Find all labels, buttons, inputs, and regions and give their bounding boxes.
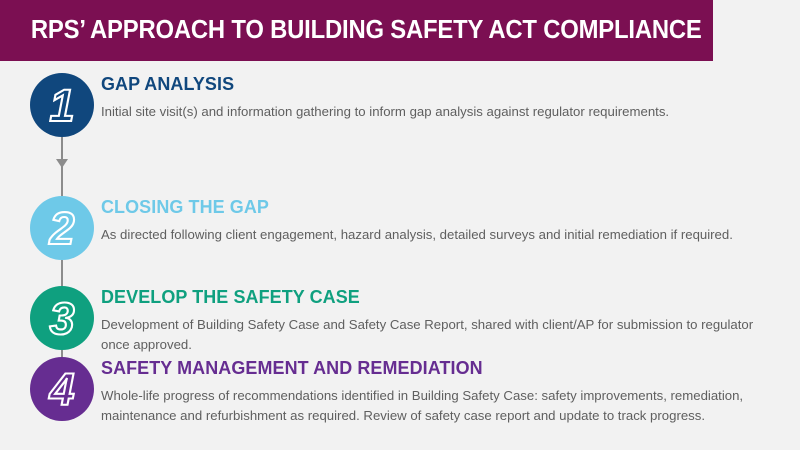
step-2-number: 2	[30, 196, 94, 260]
page-title: RPS’ APPROACH TO BUILDING SAFETY ACT COM…	[0, 16, 702, 45]
connector-arrow-down-icon	[56, 159, 68, 168]
step-2-body: As directed following client engagement,…	[101, 225, 773, 245]
step-2-heading: CLOSING THE GAP	[101, 196, 761, 218]
step-4-heading: SAFETY MANAGEMENT AND REMEDIATION	[101, 357, 761, 379]
step-1-body: Initial site visit(s) and information ga…	[101, 102, 773, 122]
step-1-text: GAP ANALYSIS Initial site visit(s) and i…	[101, 73, 781, 122]
connector-1-2	[60, 137, 64, 196]
step-1-heading: GAP ANALYSIS	[101, 73, 761, 95]
step-3-text: DEVELOP THE SAFETY CASE Development of B…	[101, 286, 781, 354]
step-2-badge: 2	[30, 196, 94, 260]
step-3-badge: 3	[30, 286, 94, 350]
step-2-text: CLOSING THE GAP As directed following cl…	[101, 196, 781, 245]
header-bar: RPS’ APPROACH TO BUILDING SAFETY ACT COM…	[0, 0, 713, 61]
step-4-body: Whole-life progress of recommendations i…	[101, 386, 773, 425]
step-4-text: SAFETY MANAGEMENT AND REMEDIATION Whole-…	[101, 357, 781, 425]
step-3-number: 3	[30, 286, 94, 350]
step-1-badge: 1	[30, 73, 94, 137]
step-3-heading: DEVELOP THE SAFETY CASE	[101, 286, 761, 308]
step-1-number: 1	[30, 73, 94, 137]
step-4-number: 4	[30, 357, 94, 421]
process-steps-list: 1 GAP ANALYSIS Initial site visit(s) and…	[0, 61, 800, 450]
step-3-body: Development of Building Safety Case and …	[101, 315, 773, 354]
step-4-badge: 4	[30, 357, 94, 421]
